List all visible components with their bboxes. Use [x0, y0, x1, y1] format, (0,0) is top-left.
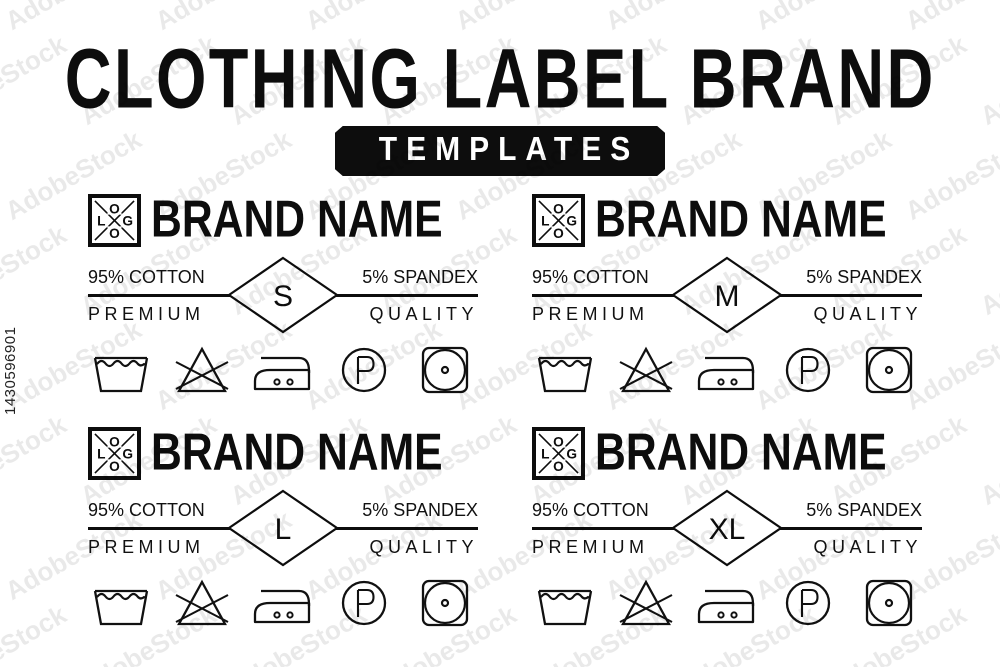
page-title: CLOTHING LABEL BRAND — [65, 38, 936, 120]
care-symbol-row — [88, 575, 478, 631]
watermark-text: AdobeStock — [975, 219, 1000, 322]
wash-tub-icon[interactable] — [90, 344, 152, 396]
logo-letter-top: O — [109, 201, 120, 216]
logo-mark: O L G O — [536, 431, 581, 476]
label-brand-row: O L G O BRAND NAME — [88, 192, 478, 248]
logo-letter-right: G — [122, 446, 133, 461]
logo-letter-top: O — [553, 434, 564, 449]
dry-clean-p-icon[interactable] — [333, 344, 395, 396]
dry-clean-p-icon[interactable] — [777, 344, 839, 396]
clothing-label-card[interactable]: O L G O BRAND NAME 95% COTTON PREMIUM XL… — [532, 425, 922, 630]
iron-two-dots-icon[interactable] — [696, 344, 758, 396]
logo-letter-right: G — [566, 446, 577, 461]
size-letter: M — [715, 280, 740, 313]
tumble-dry-icon[interactable] — [414, 344, 476, 396]
logo-letter-bottom: O — [553, 459, 564, 474]
poster-canvas: CLOTHING LABEL BRAND TEMPLATES O L G O B… — [0, 0, 1000, 667]
care-symbol-row — [532, 575, 922, 631]
logo-letter-bottom: O — [109, 459, 120, 474]
dry-clean-p-icon[interactable] — [777, 577, 839, 629]
iron-two-dots-icon[interactable] — [252, 344, 314, 396]
label-brand-row: O L G O BRAND NAME — [88, 425, 478, 481]
watermark-asset-id: 1430596901 — [2, 327, 19, 415]
wash-tub-icon[interactable] — [90, 577, 152, 629]
logo-letter-bottom: O — [553, 226, 564, 241]
watermark-text: AdobeStock — [0, 409, 72, 512]
brand-name: BRAND NAME — [595, 427, 887, 479]
size-diamond-shape: S — [227, 256, 339, 334]
logo-box[interactable]: O L G O — [88, 427, 141, 480]
logo-letter-left: L — [541, 213, 549, 228]
logo-mark: O L G O — [92, 431, 137, 476]
size-letter: XL — [709, 513, 746, 546]
do-not-bleach-icon[interactable] — [171, 577, 233, 629]
care-symbol-row — [88, 342, 478, 398]
tumble-dry-icon[interactable] — [414, 577, 476, 629]
tumble-dry-icon[interactable] — [858, 577, 920, 629]
brand-name: BRAND NAME — [151, 427, 443, 479]
watermark-text: AdobeStock — [0, 219, 72, 322]
logo-letter-top: O — [109, 434, 120, 449]
size-badge[interactable]: M — [671, 256, 783, 334]
do-not-bleach-icon[interactable] — [615, 344, 677, 396]
clothing-label-card[interactable]: O L G O BRAND NAME 95% COTTON PREMIUM M … — [532, 192, 922, 397]
logo-box[interactable]: O L G O — [532, 194, 585, 247]
size-badge[interactable]: L — [227, 489, 339, 567]
label-brand-row: O L G O BRAND NAME — [532, 425, 922, 481]
wash-tub-icon[interactable] — [534, 344, 596, 396]
headline-container: CLOTHING LABEL BRAND — [0, 38, 1000, 106]
label-brand-row: O L G O BRAND NAME — [532, 192, 922, 248]
size-diamond-shape: M — [671, 256, 783, 334]
size-badge[interactable]: S — [227, 256, 339, 334]
size-diamond-shape: L — [227, 489, 339, 567]
templates-badge-label: TEMPLATES — [370, 133, 639, 167]
logo-box[interactable]: O L G O — [532, 427, 585, 480]
watermark-text: AdobeStock — [975, 409, 1000, 512]
brand-name: BRAND NAME — [151, 194, 443, 246]
logo-letter-top: O — [553, 201, 564, 216]
logo-letter-right: G — [122, 213, 133, 228]
templates-badge: TEMPLATES — [335, 126, 665, 176]
iron-two-dots-icon[interactable] — [696, 577, 758, 629]
clothing-label-card[interactable]: O L G O BRAND NAME 95% COTTON PREMIUM S … — [88, 192, 478, 397]
wash-tub-icon[interactable] — [534, 577, 596, 629]
brand-name: BRAND NAME — [595, 194, 887, 246]
size-letter: S — [273, 280, 293, 313]
label-spec-row: 95% COTTON PREMIUM M 5% SPANDEX QUALITY — [532, 254, 922, 334]
dry-clean-p-icon[interactable] — [333, 577, 395, 629]
watermark-text: AdobeStock — [0, 599, 72, 667]
label-spec-row: 95% COTTON PREMIUM XL 5% SPANDEX QUALITY — [532, 487, 922, 567]
size-letter: L — [275, 513, 292, 546]
size-diamond-shape: XL — [671, 489, 783, 567]
logo-mark: O L G O — [536, 198, 581, 243]
watermark-text: AdobeStock — [975, 599, 1000, 667]
label-spec-row: 95% COTTON PREMIUM S 5% SPANDEX QUALITY — [88, 254, 478, 334]
logo-mark: O L G O — [92, 198, 137, 243]
do-not-bleach-icon[interactable] — [171, 344, 233, 396]
label-spec-row: 95% COTTON PREMIUM L 5% SPANDEX QUALITY — [88, 487, 478, 567]
badge-container: TEMPLATES — [0, 126, 1000, 176]
care-symbol-row — [532, 342, 922, 398]
logo-letter-bottom: O — [109, 226, 120, 241]
iron-two-dots-icon[interactable] — [252, 577, 314, 629]
logo-box[interactable]: O L G O — [88, 194, 141, 247]
logo-letter-left: L — [97, 446, 105, 461]
do-not-bleach-icon[interactable] — [615, 577, 677, 629]
size-badge[interactable]: XL — [671, 489, 783, 567]
logo-letter-right: G — [566, 213, 577, 228]
tumble-dry-icon[interactable] — [858, 344, 920, 396]
clothing-label-card[interactable]: O L G O BRAND NAME 95% COTTON PREMIUM L … — [88, 425, 478, 630]
logo-letter-left: L — [97, 213, 105, 228]
logo-letter-left: L — [541, 446, 549, 461]
